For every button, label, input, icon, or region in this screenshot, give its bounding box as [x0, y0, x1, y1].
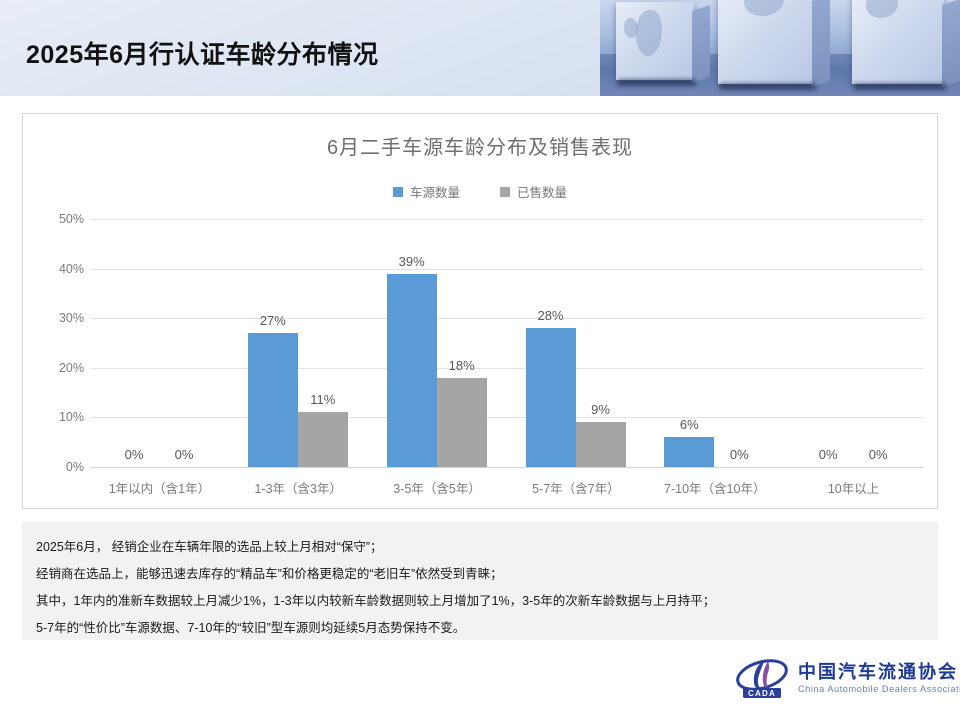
chart-bars-layer: 0%0%27%11%39%18%28%9%6%0%0%0%	[90, 219, 923, 467]
commentary-line: 2025年6月， 经销企业在车辆年限的选品上较上月相对“保守”；	[36, 534, 924, 561]
y-axis-tick-label: 10%	[36, 410, 84, 424]
legend-swatch-series-0	[393, 187, 403, 197]
svg-text:CADA: CADA	[748, 689, 776, 698]
bar-1-2[interactable]	[437, 378, 487, 467]
chart-plot-area: 0%10%20%30%40%50% 0%0%27%11%39%18%28%9%6…	[68, 219, 923, 467]
cube-shadow	[618, 79, 696, 86]
header-decorative-cubes-image	[600, 0, 960, 96]
gridline	[90, 467, 923, 468]
bar-value-label: 39%	[384, 254, 440, 269]
chart-legend: 车源数量 已售数量	[23, 182, 937, 201]
commentary-panel: 2025年6月， 经销企业在车辆年限的选品上较上月相对“保守”；经销商在选品上，…	[22, 522, 938, 640]
commentary-line: 经销商在选品上，能够迅速去库存的“精品车”和价格更稳定的“老旧车”依然受到青睐；	[36, 561, 924, 588]
chart-panel: 6月二手车源车龄分布及销售表现 车源数量 已售数量 0%10%20%30%40%…	[22, 113, 938, 509]
logo-wordmark: 中国汽车流通协会 China Automobile Dealers Associ…	[798, 662, 960, 695]
bar-1-3[interactable]	[576, 422, 626, 467]
y-axis-tick-label: 20%	[36, 361, 84, 375]
organization-logo: CADA 中国汽车流通协会 China Automobile Dealers A…	[735, 652, 940, 704]
cube-side-face	[692, 5, 710, 83]
decorative-cube	[852, 0, 944, 84]
chart-x-axis: 1年以内（含1年）1-3年（含3年）3-5年（含5年）5-7年（含7年）7-10…	[68, 474, 923, 502]
cube-side-face	[942, 0, 960, 87]
logo-name-en: China Automobile Dealers Association	[798, 683, 960, 695]
legend-label-series-1: 已售数量	[517, 182, 567, 201]
bar-1-1[interactable]	[298, 412, 348, 467]
x-axis-tick-label: 1年以内（含1年）	[90, 478, 229, 497]
bar-group: 28%9%	[507, 219, 646, 467]
x-axis-tick-label: 1-3年（含3年）	[229, 478, 368, 497]
decorative-cube	[718, 0, 814, 84]
x-axis-tick-label: 5-7年（含7年）	[507, 478, 646, 497]
bar-value-label: 0%	[711, 447, 767, 462]
bar-value-label: 18%	[434, 358, 490, 373]
bar-0-4[interactable]	[664, 437, 714, 467]
cube-map-texture	[624, 18, 638, 38]
y-axis-tick-label: 0%	[36, 460, 84, 474]
cube-face	[718, 0, 814, 84]
bar-value-label: 0%	[800, 447, 856, 462]
bar-0-2[interactable]	[387, 274, 437, 467]
x-axis-tick-label: 10年以上	[784, 478, 923, 497]
bar-value-label: 9%	[573, 402, 629, 417]
cube-side-face	[812, 0, 830, 87]
cube-map-texture	[636, 10, 662, 56]
commentary-line: 5-7年的“性价比”车源数据、7-10年的“较旧”型车源则均延续5月态势保持不变…	[36, 615, 924, 642]
bar-value-label: 27%	[245, 313, 301, 328]
bar-group: 0%0%	[90, 219, 229, 467]
bar-value-label: 11%	[295, 392, 351, 407]
cube-map-texture	[866, 0, 898, 18]
bar-group: 39%18%	[368, 219, 507, 467]
page-title: 2025年6月行认证车龄分布情况	[26, 43, 379, 68]
cube-shadow	[854, 83, 946, 90]
commentary-line: 其中，1年内的准新车数据较上月减少1%，1-3年以内较新车龄数据则较上月增加了1…	[36, 588, 924, 615]
bar-group: 27%11%	[229, 219, 368, 467]
y-axis-tick-label: 50%	[36, 212, 84, 226]
y-axis-tick-label: 30%	[36, 311, 84, 325]
cube-face	[852, 0, 944, 84]
bar-0-1[interactable]	[248, 333, 298, 467]
decorative-cube	[616, 2, 694, 80]
legend-label-series-0: 车源数量	[410, 182, 460, 201]
cada-emblem-icon: CADA	[735, 655, 789, 701]
bar-value-label: 0%	[156, 447, 212, 462]
cube-map-texture	[744, 0, 784, 16]
x-axis-tick-label: 7-10年（含10年）	[645, 478, 784, 497]
legend-item-series-0[interactable]: 车源数量	[393, 182, 460, 201]
bar-group: 6%0%	[645, 219, 784, 467]
logo-name-cn: 中国汽车流通协会	[798, 662, 960, 683]
bar-value-label: 0%	[106, 447, 162, 462]
bar-value-label: 28%	[523, 308, 579, 323]
bar-value-label: 0%	[850, 447, 906, 462]
bar-group: 0%0%	[784, 219, 923, 467]
legend-item-series-1[interactable]: 已售数量	[500, 182, 567, 201]
cube-face	[616, 2, 694, 80]
cube-shadow	[720, 83, 816, 90]
bar-value-label: 6%	[661, 417, 717, 432]
x-axis-tick-label: 3-5年（含5年）	[368, 478, 507, 497]
chart-title: 6月二手车源车龄分布及销售表现	[23, 131, 937, 160]
bar-0-3[interactable]	[526, 328, 576, 467]
legend-swatch-series-1	[500, 187, 510, 197]
y-axis-tick-label: 40%	[36, 262, 84, 276]
